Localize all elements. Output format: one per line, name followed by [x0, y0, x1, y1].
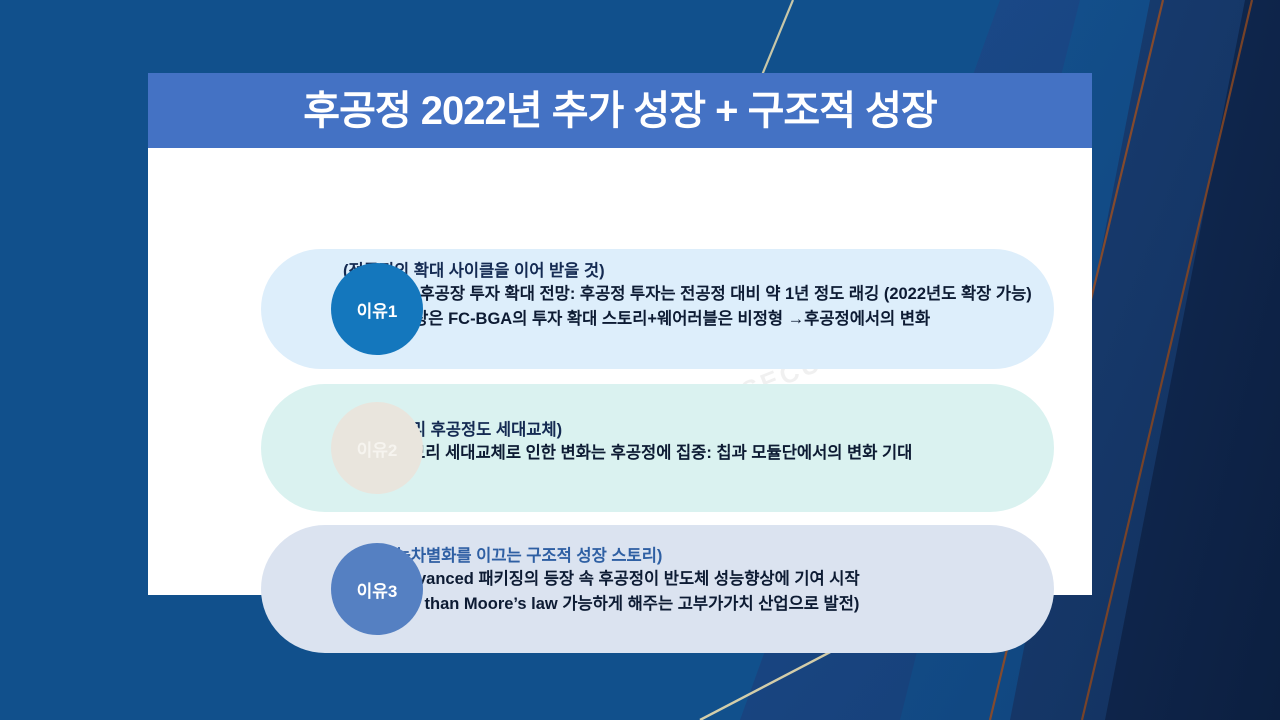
reason-badge-3: 이유3 [331, 543, 423, 635]
list-item: • 추가 성장은 FC-BGA의 투자 확대 스토리+웨어러블은 비정형 →후공… [343, 307, 1092, 333]
reason-badge-label: 이유2 [357, 436, 398, 461]
reason-heading-1: (전공정의 확대 사이클을 이어 받을 것) [343, 262, 1092, 282]
list-item-text: 2022년 후공장 투자 확대 전망: 후공정 투자는 전공정 대비 약 1년 … [363, 282, 1032, 308]
list-item-text: 추가 성장은 FC-BGA의 투자 확대 스토리+웨어러블은 비정형 →후공정에… [363, 307, 930, 333]
reason-row-3: 이유3 (성능차별화를 이끄는 구조적 성장 스토리) • Advanced 패… [148, 525, 1092, 653]
reason-heading-2: (메모리 후공정도 세대교체) [375, 421, 1092, 441]
page-title: 후공정 2022년 추가 성장 + 구조적 성장 [303, 91, 936, 131]
reason-bullets-3: • Advanced 패키징의 등장 속 후공정이 반도체 성능향상에 기여 시… [375, 567, 1092, 593]
list-item-text: Advanced 패키징의 등장 속 후공정이 반도체 성능향상에 기여 시작 [395, 567, 860, 593]
list-item-text: 메모리 세대교체로 인한 변화는 후공정에 집중: 칩과 모듈단에서의 변화 기… [395, 441, 912, 467]
reason-row-2: 이유2 (메모리 후공정도 세대교체) • 메모리 세대교체로 인한 변화는 후… [148, 384, 1092, 512]
list-item: • 2022년 후공장 투자 확대 전망: 후공정 투자는 전공정 대비 약 1… [343, 282, 1092, 308]
slide-title-band: 후공정 2022년 추가 성장 + 구조적 성장 [148, 73, 1092, 148]
reason-badge-2: 이유2 [331, 402, 423, 494]
reason-badge-label: 이유3 [357, 577, 398, 602]
reason-row-1: 이유1 (전공정의 확대 사이클을 이어 받을 것) • 2022년 후공장 투… [148, 249, 1092, 369]
list-item: • 메모리 세대교체로 인한 변화는 후공정에 집중: 칩과 모듈단에서의 변화… [375, 441, 1092, 467]
reason-bullets-2: • 메모리 세대교체로 인한 변화는 후공정에 집중: 칩과 모듈단에서의 변화… [375, 441, 1092, 467]
reason-content-1: (전공정의 확대 사이클을 이어 받을 것) • 2022년 후공장 투자 확대… [343, 249, 1092, 333]
reason-badge-label: 이유1 [357, 297, 398, 322]
reason-note-3: (More than Moore’s law 가능하게 해주는 고부가가치 산업… [375, 592, 1092, 618]
slide-card: 후공정 2022년 추가 성장 + 구조적 성장 SAMSUNG SECURIT… [148, 73, 1092, 595]
reason-badge-1: 이유1 [331, 263, 423, 355]
reason-content-2: (메모리 후공정도 세대교체) • 메모리 세대교체로 인한 변화는 후공정에 … [375, 384, 1092, 466]
list-item: • Advanced 패키징의 등장 속 후공정이 반도체 성능향상에 기여 시… [375, 567, 1092, 593]
reason-content-3: (성능차별화를 이끄는 구조적 성장 스토리) • Advanced 패키징의 … [375, 525, 1092, 618]
reason-heading-3: (성능차별화를 이끄는 구조적 성장 스토리) [375, 547, 1092, 567]
reason-bullets-1: • 2022년 후공장 투자 확대 전망: 후공정 투자는 전공정 대비 약 1… [343, 282, 1092, 333]
